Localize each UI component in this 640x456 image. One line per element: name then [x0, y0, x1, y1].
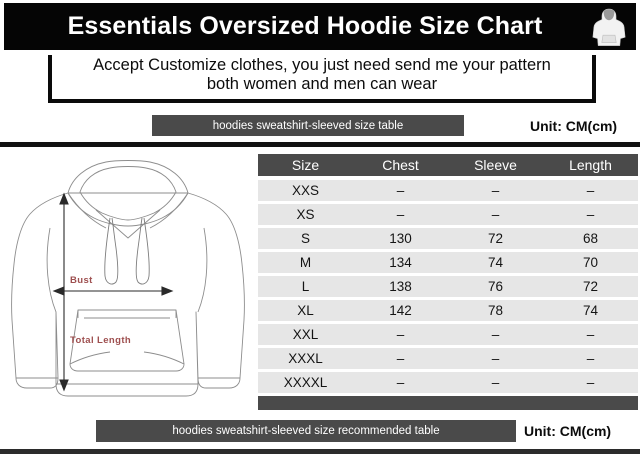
cell-chest: 134 — [353, 255, 448, 270]
hoodie-diagram: Bust Total Length — [6, 152, 246, 404]
cell-length: – — [543, 327, 638, 342]
cell-chest: – — [353, 207, 448, 222]
top-unit-label: Unit: CM(cm) — [530, 115, 636, 136]
size-table: Size Chest Sleeve Length XXS – – – XS – … — [258, 154, 638, 410]
table-row: L 138 76 72 — [258, 276, 638, 297]
total-length-label: Total Length — [70, 335, 131, 346]
cell-chest: – — [353, 327, 448, 342]
top-banner-label: hoodies sweatshirt-sleeved size table — [213, 120, 404, 132]
table-row: XXL – – – — [258, 324, 638, 345]
cell-size: L — [258, 279, 353, 294]
table-row: M 134 74 70 — [258, 252, 638, 273]
cell-size: XXL — [258, 327, 353, 342]
page-title: Essentials Oversized Hoodie Size Chart — [68, 12, 573, 41]
cell-sleeve: 78 — [448, 303, 543, 318]
cell-sleeve: 72 — [448, 231, 543, 246]
subtitle-line-1: Accept Customize clothes, you just need … — [93, 56, 551, 74]
cell-sleeve: – — [448, 351, 543, 366]
cell-size: S — [258, 231, 353, 246]
cell-sleeve: – — [448, 207, 543, 222]
cell-length: – — [543, 183, 638, 198]
bottom-banner-label: hoodies sweatshirt-sleeved size recommen… — [172, 425, 439, 437]
subtitle-line-2: both women and men can wear — [207, 75, 437, 93]
table-row: XL 142 78 74 — [258, 300, 638, 321]
cell-sleeve: – — [448, 183, 543, 198]
cell-size: M — [258, 255, 353, 270]
cell-sleeve: 76 — [448, 279, 543, 294]
column-header-chest: Chest — [353, 157, 448, 173]
top-banner: hoodies sweatshirt-sleeved size table — [152, 115, 464, 136]
cell-sleeve: 74 — [448, 255, 543, 270]
subtitle-box: Accept Customize clothes, you just need … — [48, 55, 596, 103]
cell-chest: 142 — [353, 303, 448, 318]
column-header-sleeve: Sleeve — [448, 157, 543, 173]
table-row: XXXXL – – – — [258, 372, 638, 393]
column-header-size: Size — [258, 157, 353, 173]
table-row: XS – – – — [258, 204, 638, 225]
cell-length: – — [543, 351, 638, 366]
cell-length: – — [543, 375, 638, 390]
column-header-length: Length — [543, 157, 638, 173]
cell-length: 68 — [543, 231, 638, 246]
cell-chest: – — [353, 351, 448, 366]
bottom-banner: hoodies sweatshirt-sleeved size recommen… — [96, 420, 516, 442]
cell-size: XL — [258, 303, 353, 318]
cell-chest: 130 — [353, 231, 448, 246]
divider-bottom — [0, 449, 640, 454]
cell-sleeve: – — [448, 327, 543, 342]
table-row: XXXL – – – — [258, 348, 638, 369]
table-row: XXS – – – — [258, 180, 638, 201]
subtitle-text: Accept Customize clothes, you just need … — [87, 56, 557, 95]
cell-chest: 138 — [353, 279, 448, 294]
bust-label: Bust — [70, 275, 93, 286]
cell-length: 72 — [543, 279, 638, 294]
divider-top — [0, 142, 640, 147]
table-header-row: Size Chest Sleeve Length — [258, 154, 638, 176]
cell-length: – — [543, 207, 638, 222]
cell-size: XXXXL — [258, 375, 353, 390]
cell-length: 74 — [543, 303, 638, 318]
cell-length: 70 — [543, 255, 638, 270]
cell-sleeve: – — [448, 375, 543, 390]
table-footer-bar — [258, 396, 638, 410]
header-bar: Essentials Oversized Hoodie Size Chart — [4, 3, 636, 50]
hoodie-icon — [592, 7, 626, 47]
cell-size: XXXL — [258, 351, 353, 366]
cell-chest: – — [353, 375, 448, 390]
table-row: S 130 72 68 — [258, 228, 638, 249]
bottom-unit-label: Unit: CM(cm) — [524, 420, 636, 442]
cell-size: XS — [258, 207, 353, 222]
cell-chest: – — [353, 183, 448, 198]
cell-size: XXS — [258, 183, 353, 198]
